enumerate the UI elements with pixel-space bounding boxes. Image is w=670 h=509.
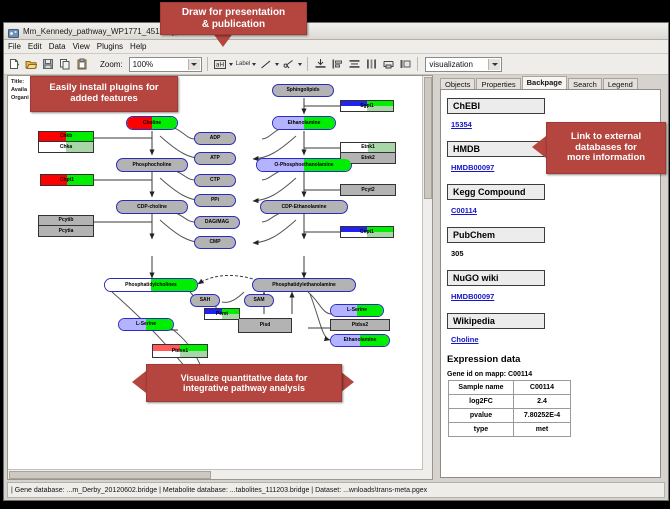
callout-draw-text: Draw for presentation & publication xyxy=(182,7,285,30)
toolbar-separator-3 xyxy=(417,57,418,71)
node-sphingolipids[interactable]: Sphingolipids xyxy=(272,84,334,97)
zoom-combo[interactable]: 100% xyxy=(129,57,202,72)
node-cmp[interactable]: CMP xyxy=(194,236,236,249)
toolbar: Zoom: 100% aH Label xyxy=(4,54,668,75)
node-dag-mag[interactable]: DAG/MAG xyxy=(194,216,240,229)
gene-ptdss2[interactable]: Ptdss2 xyxy=(330,319,390,331)
node-label: PPi xyxy=(211,198,219,203)
svg-text:aH: aH xyxy=(216,61,224,68)
node-cdp-choline[interactable]: CDP-choline xyxy=(116,200,188,214)
scroll-thumb-vertical[interactable] xyxy=(424,77,432,199)
group-icon[interactable] xyxy=(381,57,395,71)
expr-key: type xyxy=(449,423,514,437)
node-ppi[interactable]: PPi xyxy=(194,194,236,207)
gene-label: Pemt xyxy=(216,312,228,317)
canvas-scrollbar-horizontal[interactable] xyxy=(8,469,423,479)
open-folder-icon[interactable] xyxy=(24,57,38,71)
node-atp[interactable]: ATP xyxy=(194,152,236,165)
datanode-dropdown[interactable]: aH xyxy=(213,57,233,71)
save-icon[interactable] xyxy=(41,57,55,71)
db-link-chebi[interactable]: 15354 xyxy=(451,120,472,129)
node-label: CMP xyxy=(209,240,220,245)
visualization-value: visualization xyxy=(429,60,473,69)
node-label: Ethanolamine xyxy=(344,338,377,343)
db-name-pubchem: PubChem xyxy=(447,227,545,243)
zoom-label: Zoom: xyxy=(100,60,123,69)
gene-ptdss1[interactable]: Ptdss1 xyxy=(152,344,208,358)
db-link-kegg[interactable]: C00114 xyxy=(451,206,477,215)
gene-chpt1[interactable]: Chpt1 xyxy=(40,174,94,186)
expr-key: pvalue xyxy=(449,409,514,423)
align-top-icon[interactable] xyxy=(313,57,327,71)
status-bar-text: | Gene database: ...m_Derby_20120602.bri… xyxy=(11,487,427,494)
gene-label: Pcytia xyxy=(59,229,74,234)
menu-item-view[interactable]: View xyxy=(73,42,90,51)
gene-pcytia[interactable]: Pcytia xyxy=(38,226,94,237)
copy-icon[interactable] xyxy=(58,57,72,71)
node-phosphatidylcholines[interactable]: Phosphatidylcholines xyxy=(104,278,198,292)
application-window: Mm_Kennedy_pathway_WP1771_45176.gpml Fil… xyxy=(3,22,669,501)
gene-label: Pcyt2 xyxy=(361,188,374,193)
gene-label: Etnk2 xyxy=(361,156,375,161)
node-label: Phosphatidylethanolamine xyxy=(272,283,336,288)
gene-sgpl1[interactable]: Sgpl1 xyxy=(340,100,394,112)
expr-key: Sample name xyxy=(449,381,514,395)
anchor-dropdown[interactable] xyxy=(282,57,302,71)
db-value-pubchem: 305 xyxy=(451,249,464,258)
title-bar: Mm_Kennedy_pathway_WP1771_45176.gpml xyxy=(4,23,668,40)
node-sam[interactable]: SAM xyxy=(244,294,274,307)
node-label: Ethanolamine xyxy=(288,121,321,126)
gene-label: Cept1 xyxy=(360,230,374,235)
expr-value: met xyxy=(514,423,571,437)
gene-label: Chkb xyxy=(60,134,73,139)
canvas-scrollbar-vertical[interactable] xyxy=(422,76,432,479)
gene-label: Chka xyxy=(60,145,72,150)
db-link-wikipedia[interactable]: Choline xyxy=(451,335,479,344)
db-name-chebi: ChEBI xyxy=(447,98,545,114)
pathway-canvas[interactable]: Title: Availa Organi xyxy=(7,75,433,480)
callout-links-arrow xyxy=(532,136,546,158)
node-label: ATP xyxy=(210,156,220,161)
node-label: DAG/MAG xyxy=(205,220,229,225)
db-entry-wikipedia: Wikipedia Choline xyxy=(447,311,656,347)
gene-label: Chpt1 xyxy=(60,178,74,183)
gene-cept1[interactable]: Cept1 xyxy=(340,226,394,238)
node-label: SAM xyxy=(253,298,264,303)
expression-table: Sample name C00114 log2FC 2.4 pvalue 7.8… xyxy=(448,380,571,437)
db-link-hmdb[interactable]: HMDB00097 xyxy=(451,163,494,172)
menu-item-plugins[interactable]: Plugins xyxy=(97,42,123,51)
label-dropdown[interactable]: Label xyxy=(236,61,257,67)
menu-item-data[interactable]: Data xyxy=(49,42,66,51)
gene-pisd[interactable]: Pisd xyxy=(238,318,292,333)
gene-id-line: Gene id on mapp: C00114 xyxy=(447,371,656,378)
db-name-hmdb: HMDB xyxy=(447,141,545,157)
node-ethanolamine-bottom[interactable]: Ethanolamine xyxy=(330,334,390,347)
callout-visualize: Visualize quantitative data for integrat… xyxy=(146,364,342,402)
gene-label: Sgpl1 xyxy=(360,104,374,109)
callout-visualize-arrow-right xyxy=(340,371,354,393)
node-phosphocholine[interactable]: Phosphocholine xyxy=(116,158,188,172)
node-phosphatidylethanolamine[interactable]: Phosphatidylethanolamine xyxy=(252,278,356,292)
toolbar-separator-2 xyxy=(307,57,308,71)
side-panel-tabs: Objects Properties Backpage Search Legen… xyxy=(435,75,665,89)
callout-plugins: Easily install plugins for added feature… xyxy=(30,76,178,112)
node-l-serine-right[interactable]: L-Serine xyxy=(330,304,384,317)
node-sah[interactable]: SAH xyxy=(190,294,220,307)
expr-value: 7.80252E-4 xyxy=(514,409,571,423)
callout-visualize-arrow-left xyxy=(132,371,146,393)
tab-backpage[interactable]: Backpage xyxy=(522,76,567,89)
node-label: Sphingolipids xyxy=(286,88,319,93)
chevron-down-icon[interactable] xyxy=(188,59,200,70)
expr-value: 2.4 xyxy=(514,395,571,409)
db-link-nugo[interactable]: HMDB00097 xyxy=(451,292,494,301)
gene-label: Ptdss1 xyxy=(172,349,188,354)
table-row: Sample name C00114 xyxy=(449,381,571,395)
db-name-nugo: NuGO wiki xyxy=(447,270,545,286)
menu-item-file[interactable]: File xyxy=(8,42,21,51)
gene-pcytib[interactable]: Pcytib xyxy=(38,215,94,226)
distribute-icon[interactable] xyxy=(364,57,378,71)
visualization-combo[interactable]: visualization xyxy=(425,57,502,72)
table-row: log2FC 2.4 xyxy=(449,395,571,409)
node-cdp-ethanolamine[interactable]: CDP-Ethanolamine xyxy=(260,200,348,214)
node-choline[interactable]: Choline xyxy=(126,116,178,130)
callout-links: Link to external databases for more info… xyxy=(546,122,666,174)
app-icon xyxy=(8,26,19,37)
toolbar-separator xyxy=(207,57,208,71)
menu-bar: File Edit Data View Plugins Help xyxy=(4,40,668,54)
gene-chka[interactable]: Chka xyxy=(38,142,94,153)
table-row: pvalue 7.80252E-4 xyxy=(449,409,571,423)
menu-item-edit[interactable]: Edit xyxy=(28,42,42,51)
gene-label: Pisd xyxy=(260,323,271,328)
node-label: Phosphatidylcholines xyxy=(125,283,177,288)
expr-value: C00114 xyxy=(514,381,571,395)
gene-label: Ptdss2 xyxy=(352,323,368,328)
node-o-phosphoethanolamine[interactable]: O-Phosphoethanolamine xyxy=(256,158,352,172)
node-label: L-Serine xyxy=(136,322,156,327)
stack-icon[interactable] xyxy=(347,57,361,71)
callout-draw: Draw for presentation & publication xyxy=(160,2,307,35)
db-entry-pubchem: PubChem 305 xyxy=(447,225,656,261)
node-label: ADP xyxy=(210,136,221,141)
status-bar: | Gene database: ...m_Derby_20120602.bri… xyxy=(7,482,665,498)
node-l-serine-left[interactable]: L-Serine xyxy=(118,318,174,331)
gene-pemt[interactable]: Pemt xyxy=(204,308,240,320)
paste-icon[interactable] xyxy=(75,57,89,71)
label-icon[interactable]: Label xyxy=(236,61,251,67)
gene-chkb[interactable]: Chkb xyxy=(38,131,94,142)
gene-label: Pcytib xyxy=(58,218,73,223)
node-label: SAH xyxy=(200,298,211,303)
table-row: type met xyxy=(449,423,571,437)
datanode-icon[interactable]: aH xyxy=(213,57,227,71)
order-icon[interactable] xyxy=(398,57,412,71)
chevron-down-icon-2[interactable] xyxy=(488,59,500,70)
anchor-icon[interactable] xyxy=(282,57,296,71)
screenshot-root: Draw for presentation & publication Mm_K… xyxy=(0,0,670,509)
gene-pcyt2[interactable]: Pcyt2 xyxy=(340,184,396,196)
node-label: O-Phosphoethanolamine xyxy=(274,163,333,168)
scroll-thumb-horizontal[interactable] xyxy=(9,471,211,479)
db-name-kegg: Kegg Compound xyxy=(447,184,545,200)
gene-label: Etnk1 xyxy=(361,145,375,150)
db-name-wikipedia: Wikipedia xyxy=(447,313,545,329)
node-adp[interactable]: ADP xyxy=(194,132,236,145)
node-label: Phosphocholine xyxy=(133,163,172,168)
callout-visualize-text: Visualize quantitative data for integrat… xyxy=(181,373,308,394)
db-entry-kegg: Kegg Compound C00114 xyxy=(447,182,656,218)
line-dropdown[interactable] xyxy=(259,57,279,71)
expression-data-heading: Expression data xyxy=(447,354,656,365)
node-label: L-Serine xyxy=(347,308,367,313)
gene-etnk1[interactable]: Etnk1 xyxy=(340,142,396,153)
node-label: Choline xyxy=(143,121,161,126)
menu-item-help[interactable]: Help xyxy=(130,42,146,51)
expr-key: log2FC xyxy=(449,395,514,409)
node-label: CDP-choline xyxy=(137,205,167,210)
db-entry-nugo: NuGO wiki HMDB00097 xyxy=(447,268,656,304)
align-left-icon[interactable] xyxy=(330,57,344,71)
new-file-icon[interactable] xyxy=(7,57,21,71)
node-label: CTP xyxy=(210,178,220,183)
node-ethanolamine-top[interactable]: Ethanolamine xyxy=(272,116,336,130)
node-ctp[interactable]: CTP xyxy=(194,174,236,187)
callout-links-text: Link to external databases for more info… xyxy=(567,132,645,165)
zoom-value: 100% xyxy=(133,60,153,69)
line-icon[interactable] xyxy=(259,57,273,71)
callout-plugins-text: Easily install plugins for added feature… xyxy=(49,83,158,105)
node-label: CDP-Ethanolamine xyxy=(281,205,326,210)
